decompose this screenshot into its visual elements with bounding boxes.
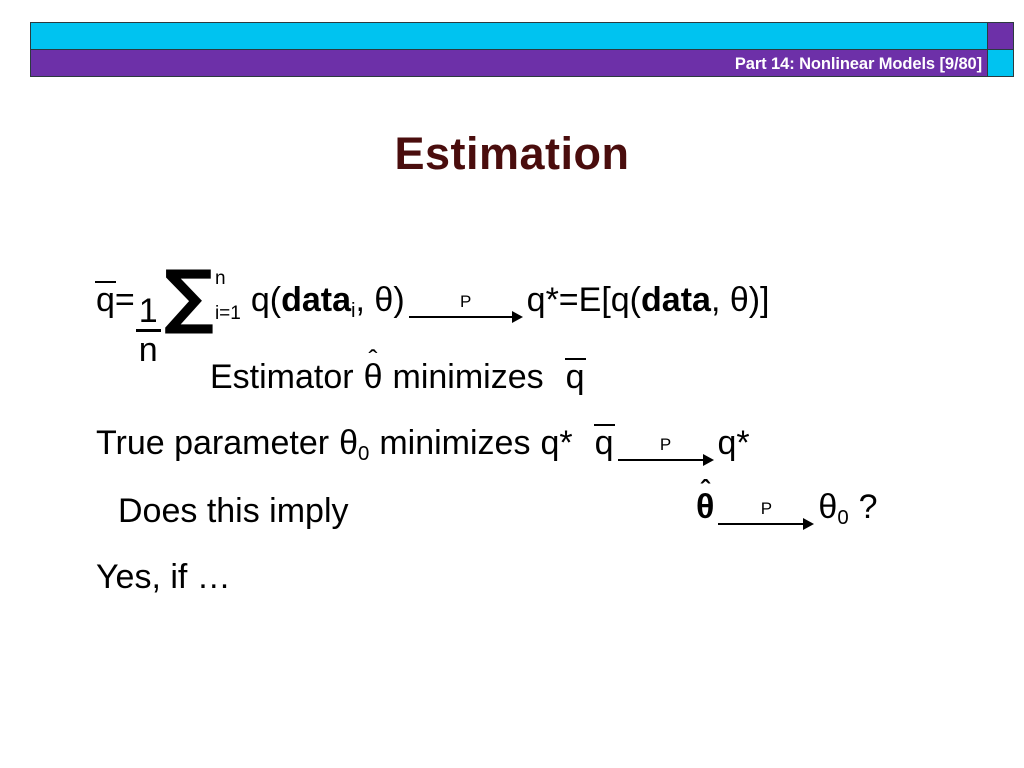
fraction-numerator: 1: [136, 294, 161, 329]
fraction-denominator: n: [136, 333, 161, 368]
q-function-open: q(: [251, 283, 281, 317]
estimator-label: Estimator: [210, 360, 354, 394]
arrow-head-icon: [512, 311, 523, 323]
true-parameter-label: True parameter: [96, 426, 329, 460]
theta-hat-question: ˆ θ: [696, 490, 714, 524]
equals-sign: =: [115, 283, 135, 317]
statement-question-math: ˆ θ P θ 0 ?: [696, 490, 878, 534]
true-verb: minimizes: [379, 426, 530, 460]
hat-mark: ˆ: [364, 346, 383, 373]
overline-mark: [565, 358, 586, 360]
statement-true-parameter: True parameter θ 0 minimizes q* q P q*: [96, 424, 750, 470]
summation-upper-limit: n: [215, 269, 241, 288]
arrow-head-icon: [703, 454, 714, 466]
theta-zero-subscript: 0: [358, 444, 369, 464]
hat-mark: ˆ: [696, 476, 714, 503]
estimator-verb: minimizes: [393, 360, 544, 394]
equation-line-main: q = 1 n ∑ n i=1 q( data i , θ) P q*=E[q(: [96, 260, 770, 357]
theta-zero-limit: θ: [818, 490, 837, 524]
q-bar-convergence-lhs: q: [595, 424, 614, 460]
arrow-shape: [718, 518, 814, 530]
q-symbol: q: [595, 424, 614, 462]
rhs-expectation-open: q*=E[q(: [527, 283, 641, 317]
data-term: data: [281, 283, 351, 317]
q-bar-lhs: q: [96, 281, 115, 317]
imply-label: Does this imply: [118, 494, 349, 528]
answer-label: Yes, if …: [96, 560, 231, 594]
data-subscript-i: i: [351, 301, 356, 321]
arrow-shape: [618, 454, 714, 466]
convergence-arrow-main: P: [409, 293, 523, 323]
question-mark: ?: [859, 490, 878, 524]
overline-mark: [594, 424, 615, 426]
fraction-one-over-n: 1 n: [136, 294, 161, 368]
convergence-arrow-q: P: [618, 436, 714, 466]
theta-zero-limit-subscript: 0: [837, 508, 848, 528]
statement-estimator: Estimator ˆ θ minimizes q: [210, 358, 585, 394]
convergence-arrow-label: P: [761, 500, 772, 517]
statement-answer: Yes, if …: [96, 560, 231, 594]
header-cyan-bar: [30, 22, 988, 50]
header-accent-square-bottom: [987, 49, 1014, 77]
q-symbol: q: [566, 358, 585, 396]
summation-lower-limit: i=1: [215, 304, 241, 323]
q-star-target: q*: [540, 426, 572, 460]
convergence-arrow-theta: P: [718, 500, 814, 530]
theta-zero: θ: [339, 426, 358, 460]
arrow-head-icon: [803, 518, 814, 530]
arrow-shaft: [618, 459, 704, 461]
q-symbol: q: [96, 281, 115, 319]
convergence-arrow-label: P: [660, 436, 671, 453]
page-title: Estimation: [0, 128, 1024, 180]
theta-hat-estimator: ˆ θ: [364, 360, 383, 394]
summation-group: ∑ n i=1: [164, 269, 241, 323]
q-star-limit: q*: [718, 426, 750, 460]
header-accent-square-top: [987, 22, 1014, 50]
statement-question-text: Does this imply: [118, 494, 349, 528]
sigma-icon: ∑: [164, 271, 214, 321]
convergence-arrow-label: P: [460, 293, 471, 310]
header-banner: Part 14: Nonlinear Models [9/80]: [30, 22, 1014, 78]
summation-limits: n i=1: [215, 269, 241, 323]
rhs-close: , θ)]: [711, 283, 770, 317]
rhs-data-term: data: [641, 283, 711, 317]
overline-mark: [95, 281, 116, 283]
header-title: Part 14: Nonlinear Models [9/80]: [735, 51, 982, 77]
theta-arg-close: , θ): [356, 283, 405, 317]
q-bar-estimator-target: q: [566, 358, 585, 394]
arrow-shaft: [718, 523, 804, 525]
arrow-shape: [409, 311, 523, 323]
arrow-shaft: [409, 316, 513, 318]
